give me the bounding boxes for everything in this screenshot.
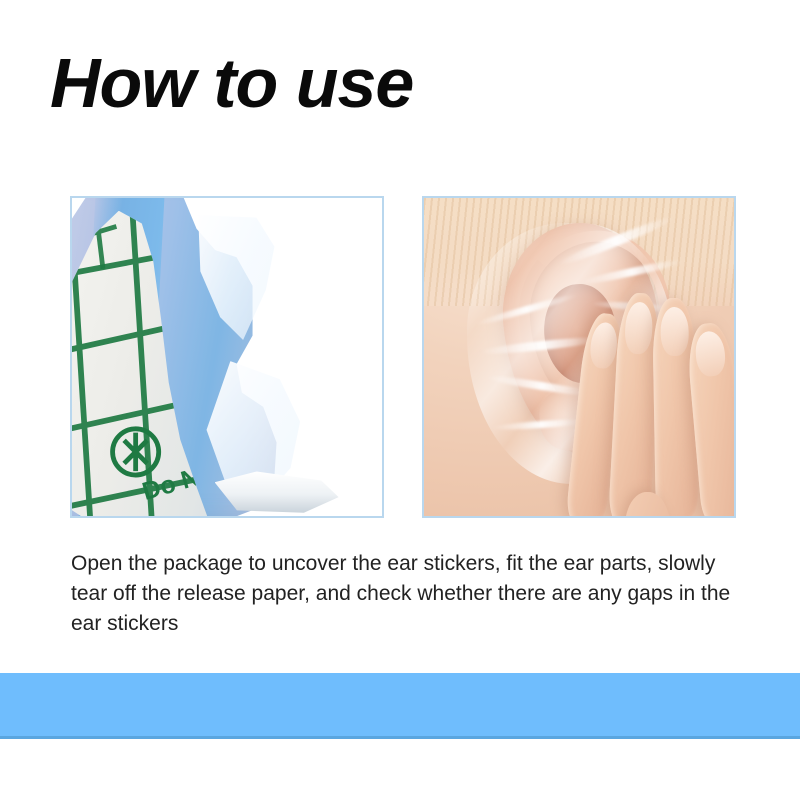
- do-not-reuse-symbol-icon: [113, 429, 159, 475]
- instruction-caption: Open the package to uncover the ear stic…: [71, 549, 743, 639]
- fingernail: [625, 302, 654, 355]
- step-photo-apply-to-ear[interactable]: [422, 196, 736, 518]
- package-scene: Do Not: [72, 198, 382, 516]
- fingernail: [694, 330, 727, 377]
- page-title: How to use: [50, 48, 413, 118]
- bottom-blue-band: [0, 673, 800, 739]
- fingernail: [660, 307, 689, 357]
- step-photo-open-package[interactable]: Do Not: [70, 196, 384, 518]
- ear-application-image: [424, 198, 734, 516]
- package-peel-image: Do Not: [72, 198, 382, 516]
- pressing-hand: [573, 293, 734, 516]
- fingernail: [589, 321, 619, 370]
- steps-gallery: Do Not: [0, 196, 800, 522]
- ear-scene: [424, 198, 734, 516]
